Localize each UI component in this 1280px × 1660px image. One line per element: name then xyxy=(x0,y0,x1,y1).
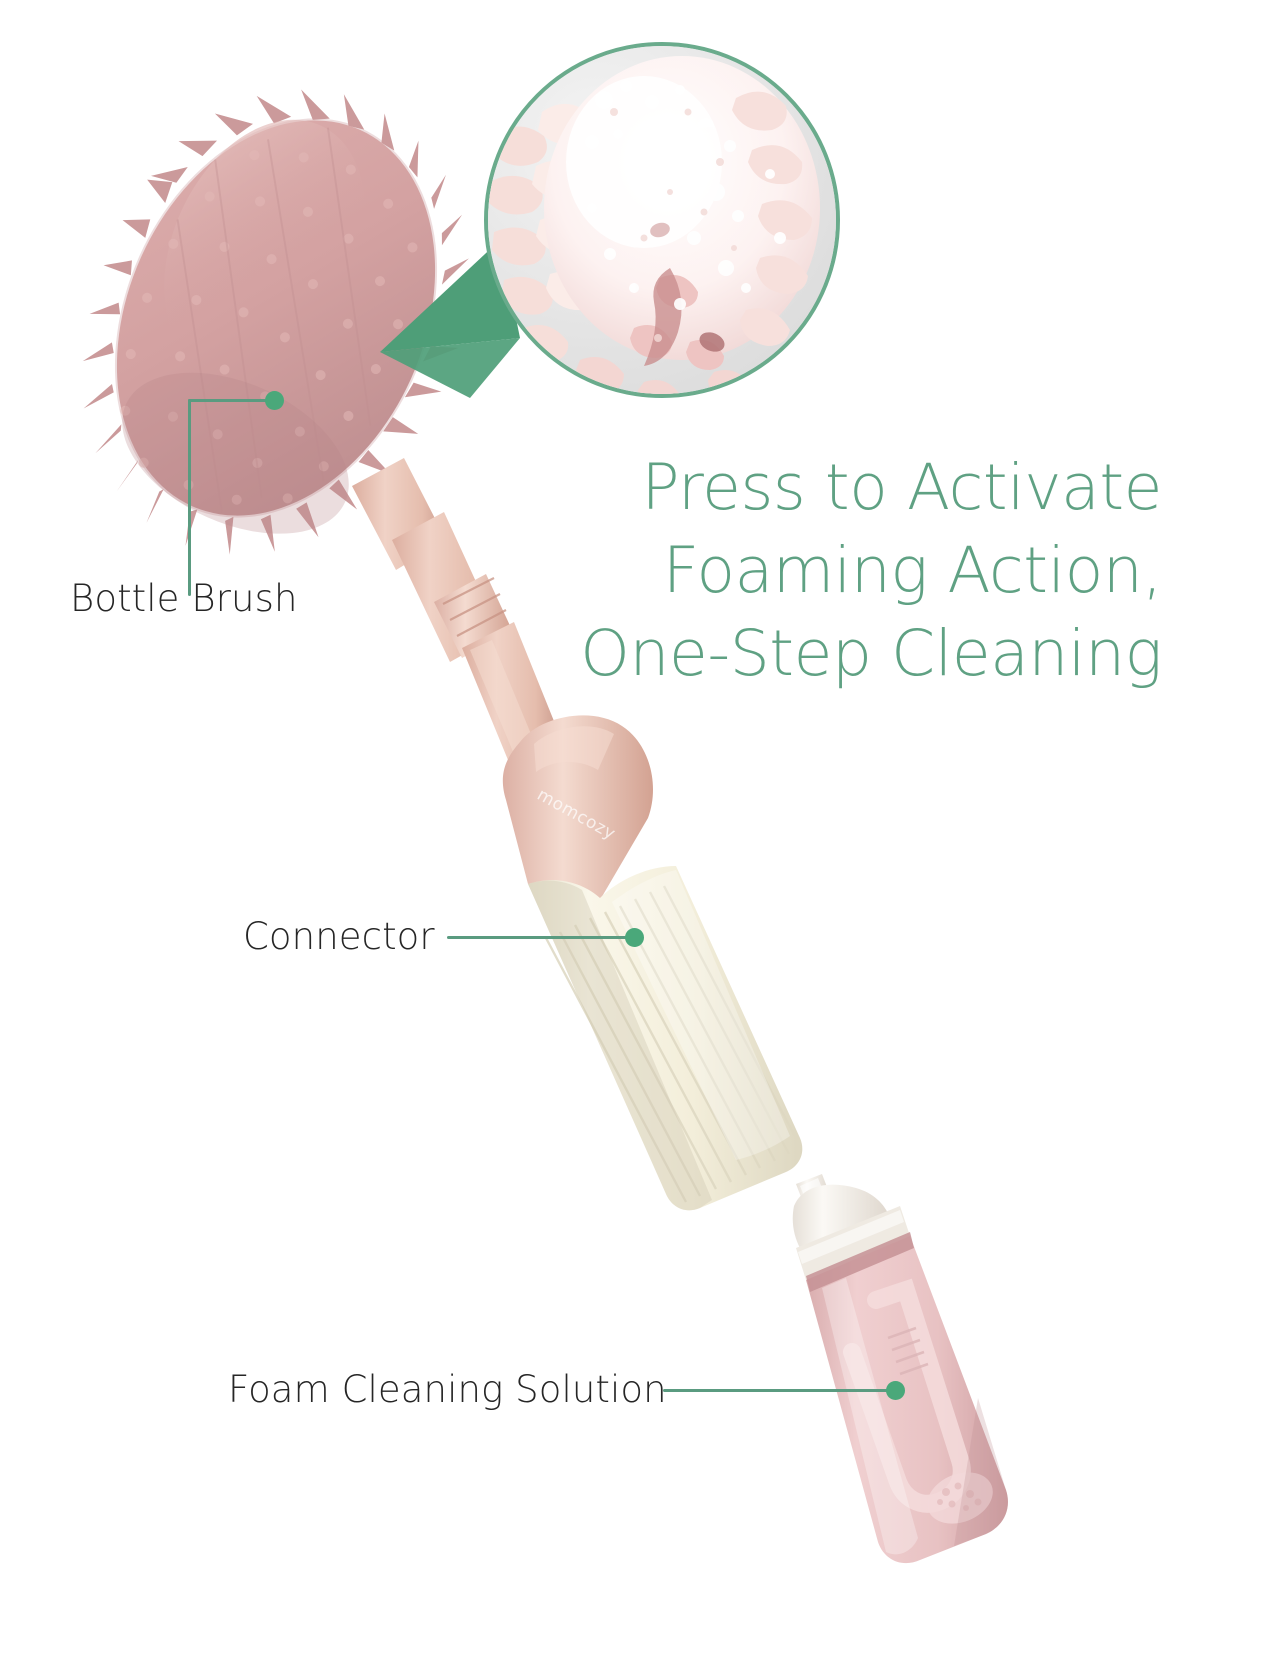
leader-line-connector xyxy=(447,936,629,939)
connector-body: momcozy xyxy=(503,715,802,1210)
headline-line-3: One-Step Cleaning xyxy=(522,612,1162,695)
leader-line-foam-solution xyxy=(663,1389,891,1392)
headline: Press to Activate Foaming Action, One-St… xyxy=(522,446,1162,695)
foam-closeup-magnifier xyxy=(484,42,840,398)
leader-line-bottle-brush-vertical xyxy=(188,399,191,596)
solution-bottle xyxy=(793,1174,1008,1563)
foam-closeup-image xyxy=(484,42,840,398)
callout-label-foam-solution: Foam Cleaning Solution xyxy=(228,1368,667,1411)
callout-dot-bottle-brush[interactable] xyxy=(265,391,284,410)
infographic-canvas: momcozy xyxy=(0,0,1280,1660)
headline-line-1: Press to Activate xyxy=(522,446,1162,529)
brush-head xyxy=(12,33,536,616)
callout-dot-foam-solution[interactable] xyxy=(886,1381,905,1400)
leader-line-bottle-brush-horizontal xyxy=(188,399,273,402)
callout-label-bottle-brush: Bottle Brush xyxy=(70,577,298,620)
callout-dot-connector[interactable] xyxy=(625,928,644,947)
headline-line-2: Foaming Action, xyxy=(522,529,1162,612)
callout-label-connector: Connector xyxy=(243,915,435,958)
